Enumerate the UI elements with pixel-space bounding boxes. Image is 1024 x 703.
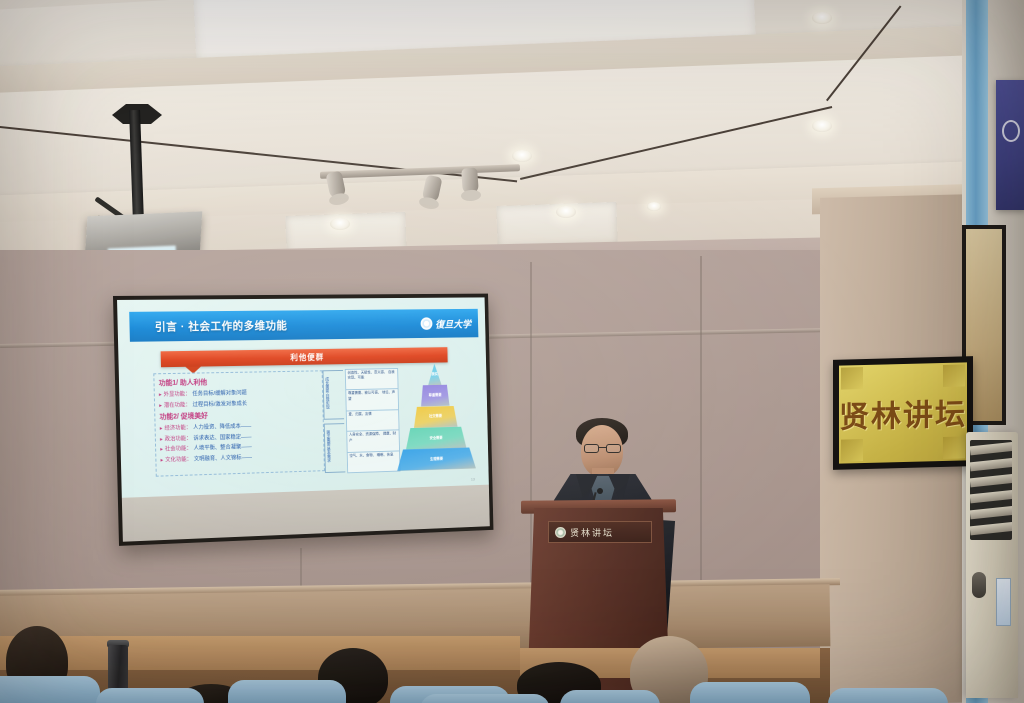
downlight-icon: [812, 12, 832, 24]
downlight-icon: [330, 218, 350, 230]
ac-label-sticker: [996, 578, 1011, 626]
pyramid-annotation: 空气、水、食物、 睡眠、休息: [347, 450, 401, 473]
pyramid-annotation: 尊重需要、被认可感、 地位、声望: [345, 388, 399, 410]
bullet-value: 文明融育、人文锦标——: [194, 453, 252, 465]
ac-fin: [970, 458, 1012, 472]
slide-title-bar: 引言 · 社会工作的多维功能 復旦大学: [129, 309, 479, 342]
downlight-icon: [556, 206, 576, 218]
section-heading: 功能1/ 助人利他: [159, 376, 318, 389]
audience-desk: [0, 636, 520, 670]
circular-seal-icon: [555, 527, 566, 538]
bullet-marker-icon: ▸: [160, 434, 163, 444]
pyramid-brace-label: 成长需要 自我实现: [324, 377, 330, 409]
fudan-emblem-icon: [421, 317, 433, 330]
pyramid-shape: 自我实现 尊重需要 社交需要 安全需要 生理需要: [392, 363, 478, 471]
pyramid-level: 社交需要: [413, 406, 457, 428]
plaque-corner-ornament: [943, 364, 965, 387]
audience-chair[interactable]: [0, 676, 100, 703]
pyramid-brace-label: 匮乏需要 基本需求: [326, 430, 332, 462]
bullet-key: 外显功能：: [164, 390, 191, 401]
plaque-plate: 贤林讲坛: [839, 362, 967, 463]
ac-fin: [970, 442, 1012, 456]
glasses-lens-right: [606, 444, 621, 453]
glasses-icon: [584, 444, 621, 453]
wall-seam: [700, 256, 702, 592]
university-logo: 復旦大学: [421, 316, 472, 331]
pyramid-annotation: 人身安全、资源保障、 健康、财产: [346, 430, 400, 452]
bullet-marker-icon: ▸: [160, 424, 163, 434]
plaque-corner-ornament: [943, 436, 965, 459]
plaque-corner-ornament: [841, 367, 863, 390]
ac-fin: [970, 522, 1012, 536]
plaque-corner-ornament: [841, 439, 863, 462]
ac-control-knob[interactable]: [972, 572, 986, 598]
audience-chair[interactable]: [228, 680, 346, 703]
bullet-value: 过程目标/激发对象成长: [193, 399, 248, 411]
bullet-marker-icon: ▸: [160, 455, 163, 465]
pyramid-brace: 成长需要 自我实现: [322, 370, 344, 420]
glasses-lens-left: [584, 444, 599, 453]
bullet-marker-icon: ▸: [159, 390, 162, 400]
plaque-text: 贤林讲坛: [839, 389, 967, 436]
pyramid-level: 自我实现: [428, 364, 442, 385]
slide-text-panel: 功能1/ 助人利他 ▸ 外显功能： 任务目标/缓解对象问题 ▸ 潜在功能： 过程…: [154, 371, 325, 477]
bullet-key: 潜在功能：: [164, 400, 191, 411]
bullet-key: 文化功能：: [165, 454, 192, 465]
pyramid-diagram: 成长需要 自我实现 匮乏需要 基本需求 创造性、天赋性、意义感、 自我实现、可能…: [322, 365, 481, 475]
poster-emblem-icon: [1002, 120, 1020, 142]
bullet-key: 经济功能：: [164, 423, 191, 434]
air-conditioner[interactable]: [966, 432, 1018, 698]
glasses-bridge: [599, 447, 606, 448]
lecture-hall-photo: 贤林讲坛 引言 · 社会工作的多维功能 復旦大学: [0, 0, 1024, 703]
wall-seam: [530, 262, 532, 592]
slide-page-number: 13: [471, 477, 475, 482]
audience-chair[interactable]: [420, 694, 550, 703]
wall-plaque: 贤林讲坛: [833, 356, 973, 470]
downlight-icon: [647, 202, 661, 211]
audience-chair[interactable]: [560, 690, 660, 703]
pyramid-annotation: 创造性、天赋性、意义感、 自我实现、可能: [345, 368, 399, 390]
university-logo-text: 復旦大学: [435, 316, 471, 331]
presentation-slide: 引言 · 社会工作的多维功能 復旦大学 利他便群 功能1/ 助人利他 ▸ 外显功…: [117, 297, 489, 498]
podium-sign: 贤林讲坛: [548, 521, 652, 543]
wall-poster: [996, 80, 1024, 210]
pyramid-annotation: 爱、归属、友情: [346, 409, 400, 431]
slide-banner-text: 利他便群: [290, 351, 324, 362]
audience-chair[interactable]: [828, 688, 948, 703]
ac-fin: [970, 474, 1012, 488]
podium-sign-text: 贤林讲坛: [570, 526, 614, 539]
bullet-marker-icon: ▸: [159, 401, 162, 411]
pyramid-brace: 匮乏需要 基本需求: [323, 423, 345, 473]
audience-chair[interactable]: [690, 682, 810, 703]
pyramid-level: 安全需要: [406, 427, 467, 450]
downlight-icon: [512, 150, 532, 162]
projection-screen-frame: 引言 · 社会工作的多维功能 復旦大学 利他便群 功能1/ 助人利他 ▸ 外显功…: [113, 294, 493, 546]
spotlight-icon: [461, 167, 479, 194]
slide-title: 引言 · 社会工作的多维功能: [155, 317, 288, 334]
pyramid-level: 尊重需要: [421, 385, 450, 407]
ac-fin: [970, 490, 1012, 504]
pyramid-level: 生理需要: [397, 447, 476, 471]
downlight-icon: [812, 120, 832, 132]
projection-screen: 引言 · 社会工作的多维功能 復旦大学 利他便群 功能1/ 助人利他 ▸ 外显功…: [117, 297, 490, 541]
audience-chair[interactable]: [96, 688, 204, 703]
bullet-marker-icon: ▸: [160, 445, 163, 455]
microphone-icon: [597, 488, 603, 494]
ac-grille: [970, 440, 1012, 540]
ac-fin: [970, 506, 1012, 520]
